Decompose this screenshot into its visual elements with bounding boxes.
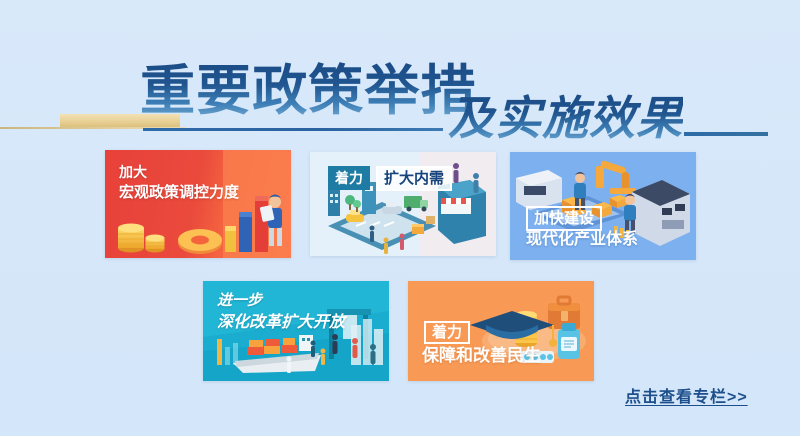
card-macro-policy[interactable]: 加大 宏观政策调控力度 bbox=[105, 150, 291, 258]
page-subtitle: 及实施效果 bbox=[448, 94, 683, 144]
card-demand-label: 扩大内需 bbox=[376, 166, 452, 191]
card-welfare-line1: 着力 bbox=[424, 321, 470, 344]
banner-root: 重要政策举措 及实施效果 bbox=[0, 0, 800, 436]
page-title-block: 重要政策举措 及实施效果 bbox=[0, 28, 800, 138]
card-macro-line2: 宏观政策调控力度 bbox=[119, 184, 239, 202]
card-industry-line1: 加快建设 bbox=[526, 206, 602, 231]
card-demand-badge: 着力 bbox=[328, 166, 370, 190]
card-improve-livelihood[interactable]: 着力 保障和改善民生 bbox=[408, 281, 594, 381]
card-reform-line1: 进一步 bbox=[217, 292, 345, 310]
card-macro-line1: 加大 bbox=[119, 164, 239, 181]
card-macro-label: 加大 宏观政策调控力度 bbox=[119, 164, 239, 201]
card-reform-line2: 深化改革扩大开放 bbox=[217, 314, 345, 333]
card-expand-demand[interactable]: 着力 扩大内需 bbox=[310, 152, 496, 256]
card-welfare-line2: 保障和改善民生 bbox=[422, 347, 541, 364]
card-industry-line2: 现代化产业体系 bbox=[526, 232, 638, 248]
title-underline-right bbox=[684, 132, 768, 136]
page-title: 重要政策举措 bbox=[140, 62, 477, 120]
title-underline-left bbox=[143, 128, 443, 131]
card-reform-label: 进一步 深化改革扩大开放 bbox=[217, 292, 345, 333]
view-column-link[interactable]: 点击查看专栏>> bbox=[625, 383, 748, 407]
card-deepen-reform[interactable]: 进一步 深化改革扩大开放 bbox=[203, 281, 389, 381]
card-modern-industry[interactable]: 加快建设 现代化产业体系 bbox=[510, 152, 696, 260]
